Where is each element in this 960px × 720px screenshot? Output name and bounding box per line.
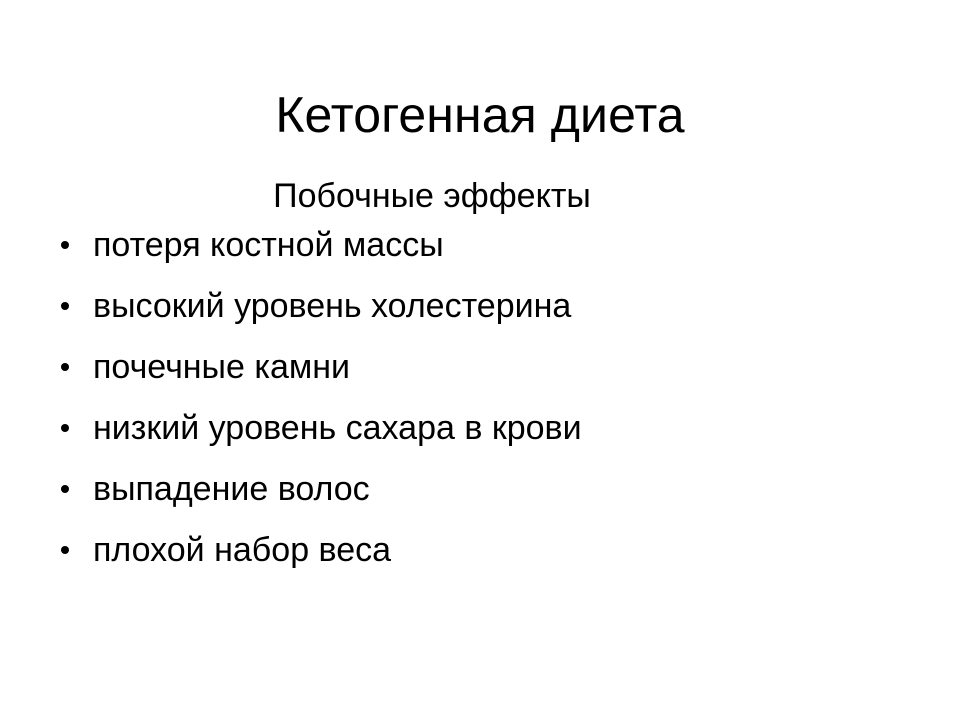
side-effects-list: потеря костной массы высокий уровень хол…: [52, 228, 912, 567]
list-item-label: низкий уровень сахара в крови: [93, 409, 582, 447]
list-item-label: потеря костной массы: [93, 226, 444, 264]
bullet-dot-icon: [61, 546, 69, 554]
list-item: почечные камни: [52, 350, 912, 384]
presentation-slide: Кетогенная диета Побочные эффекты потеря…: [0, 0, 960, 720]
list-item: выпадение волос: [52, 472, 912, 506]
page-title: Кетогенная диета: [0, 88, 960, 143]
list-item-label: высокий уровень холестерина: [93, 287, 571, 325]
list-item-label: почечные камни: [93, 348, 350, 386]
slide-body: Побочные эффекты потеря костной массы вы…: [52, 176, 912, 567]
list-item-label: выпадение волос: [93, 470, 370, 508]
list-item: высокий уровень холестерина: [52, 289, 912, 323]
bullet-dot-icon: [61, 485, 69, 493]
bullet-dot-icon: [61, 363, 69, 371]
list-item: низкий уровень сахара в крови: [52, 411, 912, 445]
bullet-dot-icon: [61, 424, 69, 432]
list-item-label: плохой набор веса: [93, 531, 391, 569]
bullet-dot-icon: [61, 302, 69, 310]
bullet-dot-icon: [61, 241, 69, 249]
list-item: потеря костной массы: [52, 228, 912, 262]
list-item: плохой набор веса: [52, 533, 912, 567]
section-heading: Побочные эффекты: [52, 176, 812, 216]
